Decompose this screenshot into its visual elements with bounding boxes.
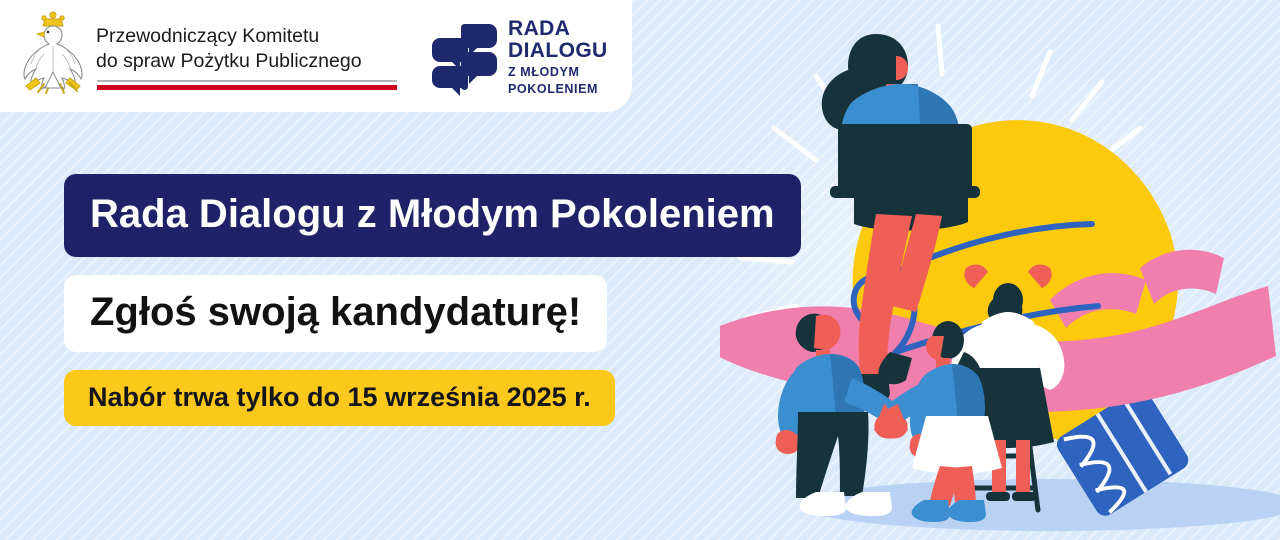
ministry-title-line2: do spraw Pożytku Publicznego [96,49,406,74]
rdmp-logo: RADA DIALOGU Z MŁODYM POKOLENIEM [428,16,614,98]
rdmp-line-zmlodym: Z MŁODYM [508,64,616,81]
rdmp-line-dialogu: DIALOGU [508,40,616,62]
rdmp-line-rada: RADA [508,18,616,40]
headline-title-pill: Rada Dialogu z Młodym Pokoleniem [64,174,801,257]
rdmp-logo-wordmark: RADA DIALOGU Z MŁODYM POKOLENIEM [508,18,616,98]
headline-stack: Rada Dialogu z Młodym Pokoleniem Zgłoś s… [64,174,801,426]
polish-white-eagle-emblem-icon [14,10,92,98]
headline-cta-pill: Zgłoś swoją kandydaturę! [64,275,607,352]
rdmp-line-pokoleniem: POKOLENIEM [508,81,616,98]
divider-red [97,85,397,90]
speech-bubble-plant-icon [428,18,502,96]
ministry-title-line1: Przewodniczący Komitetu [96,24,406,49]
header-panel: Przewodniczący Komitetu do spraw Pożytku… [0,0,632,112]
ladder-person-head [993,283,1023,317]
divider-grey [97,80,397,82]
headline-deadline-pill: Nabór trwa tylko do 15 września 2025 r. [64,370,615,426]
ministry-title: Przewodniczący Komitetu do spraw Pożytku… [96,24,406,74]
banner-root: Przewodniczący Komitetu do spraw Pożytku… [0,0,1280,540]
illustration-lightbulb-scene [720,0,1280,540]
